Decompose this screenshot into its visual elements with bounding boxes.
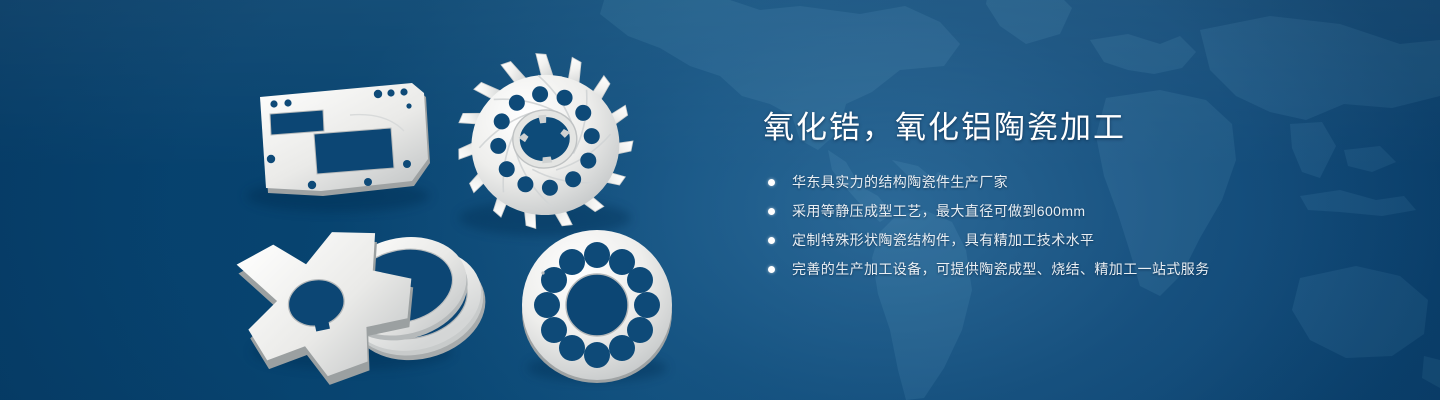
feature-text: 采用等静压成型工艺，最大直径可做到600mm (792, 203, 1085, 219)
feature-list: 华东具实力的结构陶瓷件生产厂家 采用等静压成型工艺，最大直径可做到600mm 定… (768, 172, 1383, 280)
feature-text: 完善的生产加工设备，可提供陶瓷成型、烧结、精加工一站式服务 (792, 261, 1210, 277)
list-item: 采用等静压成型工艺，最大直径可做到600mm (768, 201, 1383, 222)
banner-copy: 氧化锆，氧化铝陶瓷加工 华东具实力的结构陶瓷件生产厂家 采用等静压成型工艺，最大… (763, 106, 1383, 288)
list-item: 定制特殊形状陶瓷结构件，具有精加工技术水平 (768, 230, 1383, 251)
list-item: 完善的生产加工设备，可提供陶瓷成型、烧结、精加工一站式服务 (768, 259, 1383, 280)
list-item: 华东具实力的结构陶瓷件生产厂家 (768, 172, 1383, 193)
feature-text: 定制特殊形状陶瓷结构件，具有精加工技术水平 (792, 232, 1094, 248)
feature-text: 华东具实力的结构陶瓷件生产厂家 (792, 174, 1008, 190)
bullet-dot-icon (768, 266, 775, 273)
bullet-dot-icon (768, 237, 775, 244)
hero-banner: 氧化锆，氧化铝陶瓷加工 华东具实力的结构陶瓷件生产厂家 采用等静压成型工艺，最大… (0, 0, 1440, 400)
bullet-dot-icon (768, 179, 775, 186)
page-title: 氧化锆，氧化铝陶瓷加工 (763, 106, 1383, 150)
bullet-dot-icon (768, 208, 775, 215)
ceramic-base-plate-shape (260, 83, 430, 196)
product-collage (0, 0, 700, 400)
ceramic-perforated-disc-shape (522, 230, 672, 383)
